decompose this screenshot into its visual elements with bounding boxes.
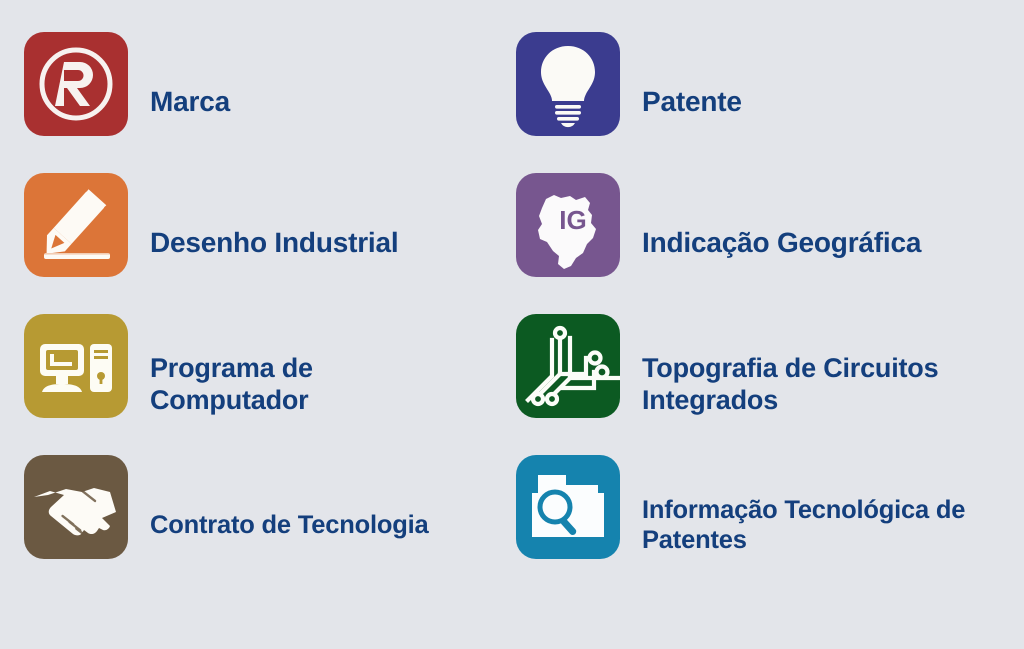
category-label-patente: Patente [642,86,742,118]
category-item-contrato-de-tecnologia[interactable]: Contrato de Tecnologia [24,455,516,596]
category-item-informacao-tecnologica[interactable]: Informação Tecnológica de Patentes [516,455,1008,596]
registered-trademark-icon [24,32,128,136]
category-item-topografia-circuitos[interactable]: Topografia de Circuitos Integrados [516,314,1008,455]
brazil-map-ig-icon: IG [516,173,620,277]
folder-search-icon [516,455,620,559]
circuit-board-icon [516,314,620,418]
ip-categories-board: Marca Patente [0,0,1024,649]
category-label-contrato-de-tecnologia: Contrato de Tecnologia [150,511,428,540]
category-label-topografia-circuitos: Topografia de Circuitos Integrados [642,353,1008,415]
category-label-informacao-tecnologica: Informação Tecnológica de Patentes [642,496,1008,555]
lightbulb-icon [516,32,620,136]
category-item-indicacao-geografica[interactable]: IG Indicação Geográfica [516,173,1008,314]
desktop-computer-icon [24,314,128,418]
category-label-programa-de-computador: Programa de Computador [150,353,313,415]
category-item-patente[interactable]: Patente [516,32,1008,173]
category-item-desenho-industrial[interactable]: Desenho Industrial [24,173,516,314]
category-item-programa-de-computador[interactable]: Programa de Computador [24,314,516,455]
handshake-icon [24,455,128,559]
category-label-marca: Marca [150,86,230,118]
category-label-desenho-industrial: Desenho Industrial [150,227,398,259]
ig-badge-text: IG [559,205,586,235]
ip-categories-grid: Marca Patente [0,0,1024,649]
category-label-indicacao-geografica: Indicação Geográfica [642,227,921,259]
category-item-marca[interactable]: Marca [24,32,516,173]
pencil-icon [24,173,128,277]
